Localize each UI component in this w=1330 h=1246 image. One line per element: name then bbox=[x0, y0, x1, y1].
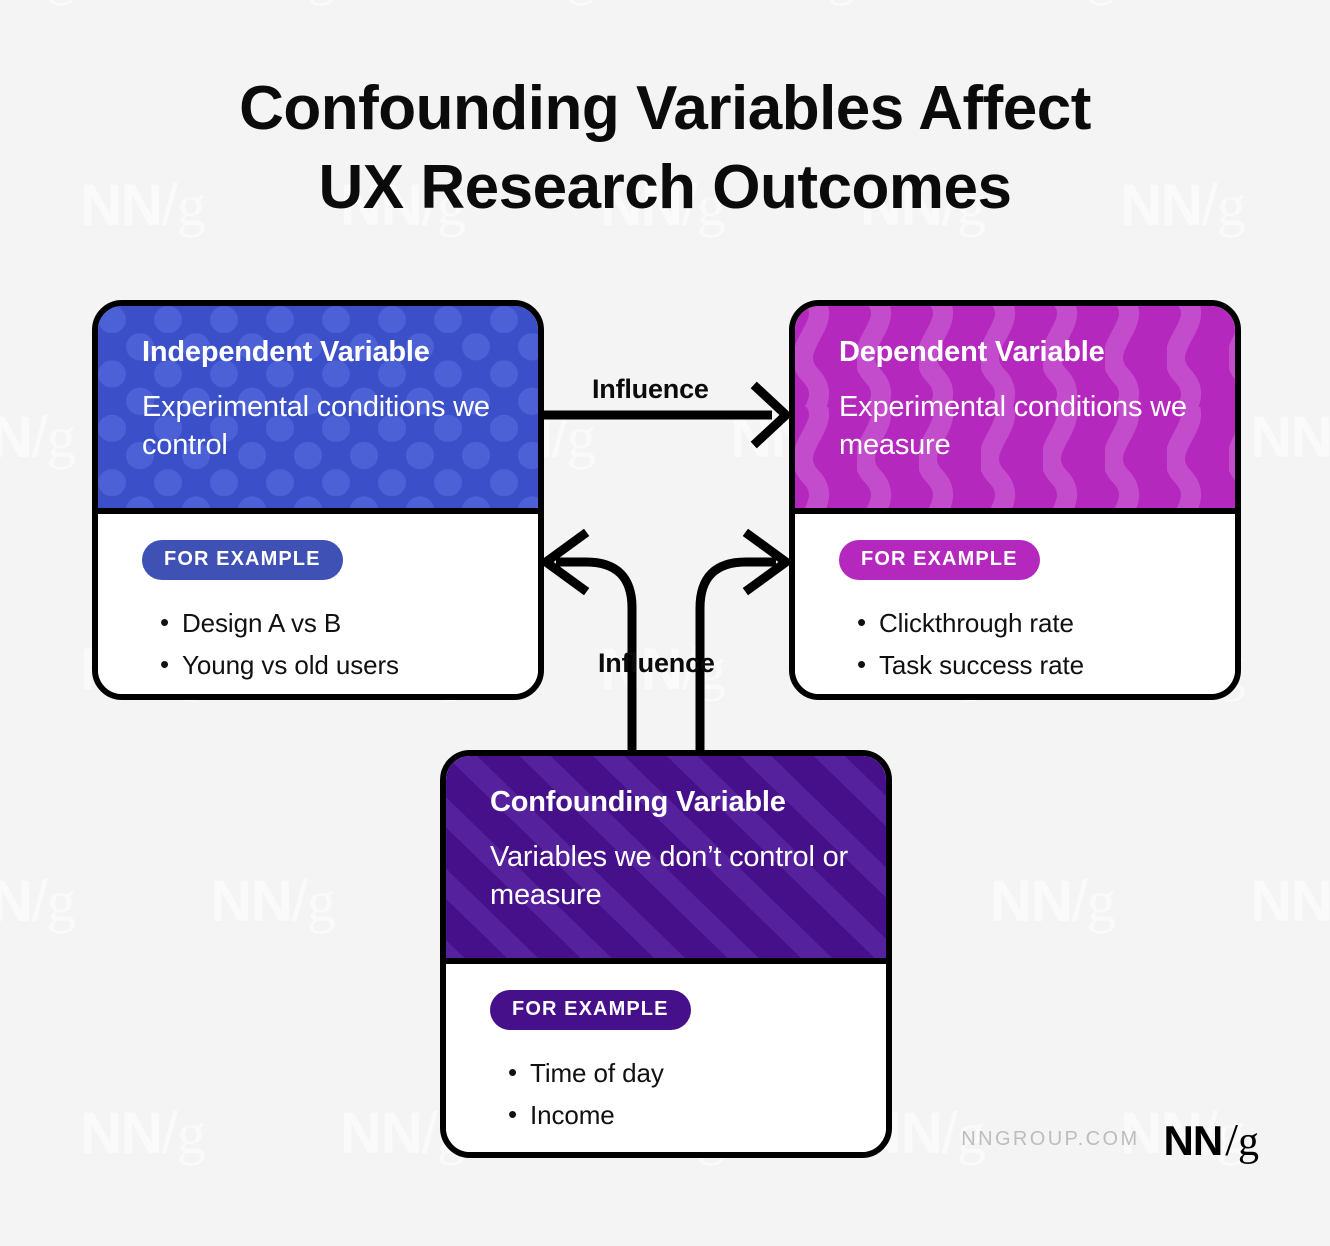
page-title: Confounding Variables Affect UX Research… bbox=[0, 70, 1330, 227]
list-item: Clickthrough rate bbox=[857, 602, 1201, 644]
for-example-pill-dependent: FOR EXAMPLE bbox=[839, 540, 1040, 580]
card-subtitle-confounding: Variables we don’t control or measure bbox=[490, 839, 852, 914]
list-item: Young vs old users bbox=[160, 644, 504, 686]
logo-slash: / bbox=[1225, 1113, 1237, 1166]
card-header-dependent: Dependent Variable Experimental conditio… bbox=[795, 306, 1235, 514]
card-independent-variable: Independent Variable Experimental condit… bbox=[92, 300, 544, 700]
list-item: Income bbox=[508, 1094, 852, 1136]
list-item: Task success rate bbox=[857, 644, 1201, 686]
card-body-independent: FOR EXAMPLE Design A vs B Young vs old u… bbox=[98, 514, 538, 700]
nng-logo: NN/g bbox=[1164, 1113, 1258, 1166]
card-title-confounding: Confounding Variable bbox=[490, 786, 852, 819]
card-body-confounding: FOR EXAMPLE Time of day Income bbox=[446, 964, 886, 1158]
card-title-independent: Independent Variable bbox=[142, 336, 504, 369]
list-item: Design A vs B bbox=[160, 602, 504, 644]
list-item: Time of day bbox=[508, 1052, 852, 1094]
logo-n1: N bbox=[1164, 1117, 1193, 1165]
card-body-dependent: FOR EXAMPLE Clickthrough rate Task succe… bbox=[795, 514, 1235, 700]
card-header-confounding: Confounding Variable Variables we don’t … bbox=[446, 756, 886, 964]
card-title-dependent: Dependent Variable bbox=[839, 336, 1201, 369]
for-example-pill-independent: FOR EXAMPLE bbox=[142, 540, 343, 580]
card-confounding-variable: Confounding Variable Variables we don’t … bbox=[440, 750, 892, 1158]
logo-n2: N bbox=[1193, 1117, 1222, 1165]
footer: NNGROUP.COM NN/g bbox=[961, 1113, 1258, 1166]
example-list-independent: Design A vs B Young vs old users bbox=[142, 602, 504, 686]
example-list-confounding: Time of day Income bbox=[490, 1052, 852, 1136]
card-dependent-variable: Dependent Variable Experimental conditio… bbox=[789, 300, 1241, 700]
page-title-line-1: Confounding Variables Affect bbox=[0, 70, 1330, 149]
arrow-label-influence-top: Influence bbox=[592, 374, 709, 405]
page-title-line-2: UX Research Outcomes bbox=[0, 149, 1330, 228]
footer-url: NNGROUP.COM bbox=[961, 1128, 1139, 1151]
for-example-pill-confounding: FOR EXAMPLE bbox=[490, 990, 691, 1030]
card-subtitle-dependent: Experimental conditions we measure bbox=[839, 389, 1201, 464]
card-header-independent: Independent Variable Experimental condit… bbox=[98, 306, 538, 514]
card-subtitle-independent: Experimental conditions we control bbox=[142, 389, 504, 464]
example-list-dependent: Clickthrough rate Task success rate bbox=[839, 602, 1201, 686]
logo-g: g bbox=[1238, 1118, 1258, 1166]
arrow-label-influence-bottom: Influence bbox=[598, 648, 715, 679]
